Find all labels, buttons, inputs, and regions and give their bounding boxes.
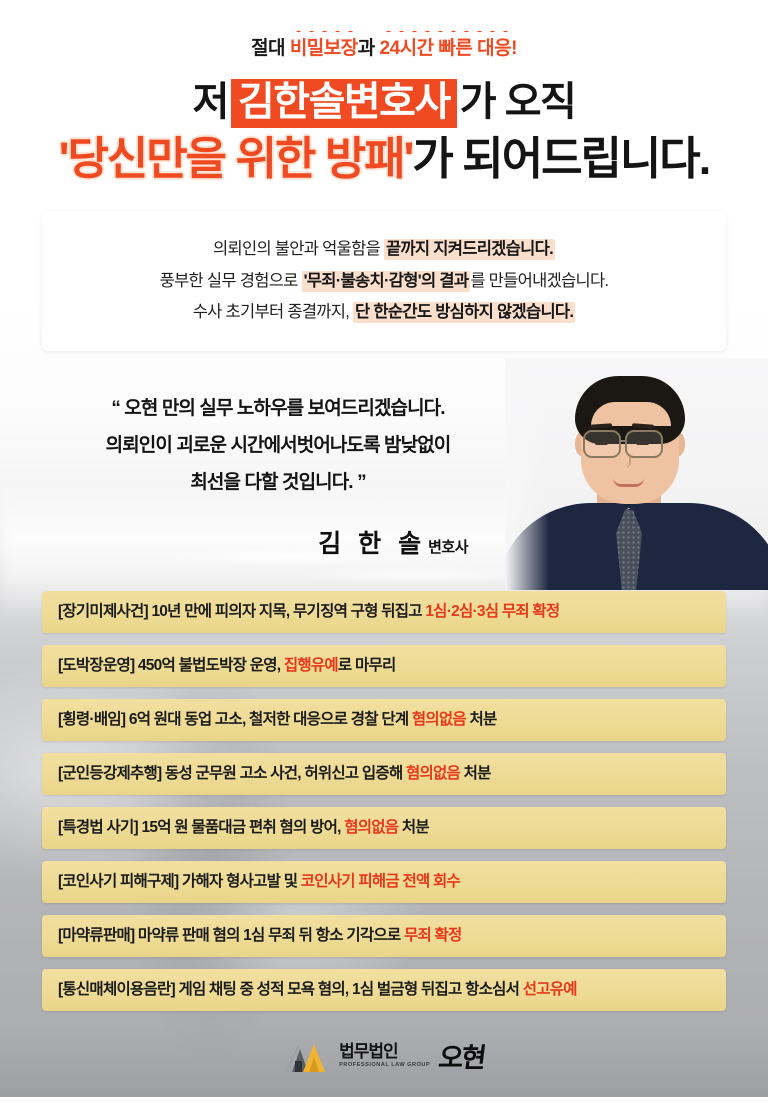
promise-line: 수사 초기부터 종결까지, 단 한순간도 방심하지 않겠습니다.	[193, 302, 576, 323]
headline-line-2: '당신만을 위한 방패'가 되어드립니다.	[0, 134, 768, 184]
mountain-logo-icon	[283, 1039, 329, 1073]
promise-card: 의뢰인의 불안과 억울함을 끝까지 지켜드리겠습니다. 풍부한 실무 경험으로 …	[42, 211, 726, 351]
footer-firm-logo[interactable]: 법무법인 PROFESSIONAL LAW GROUP 오현	[0, 1036, 768, 1075]
case-result-pre: [도박장운영] 450억 불법도박장 운영,	[58, 657, 284, 674]
case-result-pre: [군인등강제추행] 동성 군무원 고소 사건, 허위신고 입증해	[58, 765, 406, 782]
case-result-text: [통신매체이용음란] 게임 채팅 중 성적 모욕 혐의, 1심 벌금형 뒤집고 …	[58, 982, 577, 998]
case-result-row[interactable]: [횡령·배임] 6억 원대 동업 고소, 철저한 대응으로 경찰 단계 혐의없음…	[42, 699, 726, 741]
logo-korean-text: 법무법인	[339, 1043, 430, 1061]
case-result-pre: [마약류판매] 마약류 판매 혐의 1심 무죄 뒤 항소 기각으로	[58, 927, 404, 944]
portrait-mouth	[613, 478, 644, 487]
promise-text-pre: 의뢰인의 불안과 억울함을	[213, 240, 384, 258]
case-result-text: [군인등강제추행] 동성 군무원 고소 사건, 허위신고 입증해 혐의없음 처분	[58, 766, 491, 782]
promise-text-pre: 풍부한 실무 경험으로	[160, 272, 302, 290]
case-result-pre: [코인사기 피해구제] 가해자 형사고발 및	[58, 873, 301, 890]
case-results-list: [장기미제사건] 10년 만에 피의자 지목, 무기징역 구형 뒤집고 1심·2…	[42, 591, 726, 1023]
signature-name: 김 한 솔	[318, 530, 426, 558]
case-result-outcome: 무죄 확정	[404, 927, 462, 944]
case-result-outcome: 코인사기 피해금 전액 회수	[301, 873, 460, 890]
logo-brand-name: 오현	[437, 1036, 487, 1075]
quote-line: 최선을 다할 것입니다. ”	[48, 464, 508, 501]
case-result-text: [장기미제사건] 10년 만에 피의자 지목, 무기징역 구형 뒤집고 1심·2…	[58, 604, 559, 620]
headline-shield-phrase: '당신만을 위한 방패'	[59, 133, 413, 184]
case-result-text: [마약류판매] 마약류 판매 혐의 1심 무죄 뒤 항소 기각으로 무죄 확정	[58, 928, 462, 944]
case-result-post: 처분	[460, 765, 491, 782]
case-result-outcome: 선고유예	[523, 981, 577, 998]
promise-highlight: 단 한순간도 방심하지 않겠습니다.	[353, 302, 575, 323]
eyebrow-highlight-confidentiality: 비밀보장	[290, 38, 358, 59]
case-result-row[interactable]: [도박장운영] 450억 불법도박장 운영, 집행유예로 마무리	[42, 645, 726, 687]
case-result-post: 처분	[466, 711, 497, 728]
case-result-row[interactable]: [군인등강제추행] 동성 군무원 고소 사건, 허위신고 입증해 혐의없음 처분	[42, 753, 726, 795]
case-result-row[interactable]: [코인사기 피해구제] 가해자 형사고발 및 코인사기 피해금 전액 회수	[42, 861, 726, 903]
quote-signature: 김 한 솔변호사	[48, 524, 468, 560]
headline-lawyer-name-badge: 김한솔변호사	[231, 79, 457, 128]
portrait-left-fade	[505, 358, 549, 590]
eyebrow-highlight-response: 24시간 빠른 대응!	[380, 38, 517, 59]
case-result-outcome: 1심·2심·3심 무죄 확정	[425, 603, 559, 620]
promise-highlight: 끝까지 지켜드리겠습니다.	[384, 239, 555, 260]
case-result-outcome: 집행유예	[284, 657, 338, 674]
quote-line: “ 오현 만의 실무 노하우를 보여드리겠습니다.	[48, 390, 508, 427]
promise-text-post: 를 만들어내겠습니다.	[470, 272, 608, 290]
case-result-pre: [장기미제사건] 10년 만에 피의자 지목, 무기징역 구형 뒤집고	[58, 603, 425, 620]
case-result-post: 처분	[398, 819, 429, 836]
case-result-text: [특경법 사기] 15억 원 물품대금 편취 혐의 방어, 혐의없음 처분	[58, 820, 429, 836]
logo-korean-block: 법무법인 PROFESSIONAL LAW GROUP	[339, 1043, 430, 1069]
case-result-outcome: 혐의없음	[406, 765, 460, 782]
case-result-text: [도박장운영] 450억 불법도박장 운영, 집행유예로 마무리	[58, 658, 396, 674]
promise-highlight: '무죄·불송치·감형'의 결과	[302, 271, 471, 292]
portrait-eyeglass-lens-left	[583, 430, 621, 458]
lawyer-quote: “ 오현 만의 실무 노하우를 보여드리겠습니다. 의뢰인이 괴로운 시간에서벗…	[48, 390, 508, 501]
signature-role: 변호사	[428, 539, 468, 556]
case-result-row[interactable]: [마약류판매] 마약류 판매 혐의 1심 무죄 뒤 항소 기각으로 무죄 확정	[42, 915, 726, 957]
promise-text-pre: 수사 초기부터 종결까지,	[193, 303, 353, 321]
case-result-pre: [횡령·배임] 6억 원대 동업 고소, 철저한 대응으로 경찰 단계	[58, 711, 412, 728]
case-result-row[interactable]: [장기미제사건] 10년 만에 피의자 지목, 무기징역 구형 뒤집고 1심·2…	[42, 591, 726, 633]
quote-line: 의뢰인이 괴로운 시간에서벗어나도록 밤낮없이	[48, 427, 508, 464]
headline-line-2-suffix: 가 되어드립니다.	[412, 133, 709, 184]
poster-stage: 절대 비밀보장과 24시간 빠른 대응! 저김한솔변호사가 오직 '당신만을 위…	[0, 0, 768, 1097]
headline-prefix: 저	[193, 80, 228, 124]
headline-line-1: 저김한솔변호사가 오직	[0, 79, 768, 128]
eyebrow-plain-2: 과	[358, 38, 380, 59]
case-result-row[interactable]: [통신매체이용음란] 게임 채팅 중 성적 모욕 혐의, 1심 벌금형 뒤집고 …	[42, 969, 726, 1011]
portrait-eyeglass-bridge	[621, 440, 627, 442]
eyebrow-plain-1: 절대	[251, 38, 290, 59]
case-result-text: [코인사기 피해구제] 가해자 형사고발 및 코인사기 피해금 전액 회수	[58, 874, 460, 890]
case-result-text: [횡령·배임] 6억 원대 동업 고소, 철저한 대응으로 경찰 단계 혐의없음…	[58, 712, 497, 728]
case-result-outcome: 혐의없음	[344, 819, 398, 836]
promise-line: 풍부한 실무 경험으로 '무죄·불송치·감형'의 결과를 만들어내겠습니다.	[160, 271, 609, 292]
case-result-pre: [통신매체이용음란] 게임 채팅 중 성적 모욕 혐의, 1심 벌금형 뒤집고 …	[58, 981, 523, 998]
headline-suffix: 가 오직	[460, 80, 576, 124]
case-result-post: 로 마무리	[338, 657, 396, 674]
logo-text-group: 법무법인 PROFESSIONAL LAW GROUP 오현	[339, 1036, 485, 1075]
logo-english-text: PROFESSIONAL LAW GROUP	[339, 1062, 430, 1068]
case-result-pre: [특경법 사기] 15억 원 물품대금 편취 혐의 방어,	[58, 819, 344, 836]
case-result-outcome: 혐의없음	[412, 711, 466, 728]
promise-line: 의뢰인의 불안과 억울함을 끝까지 지켜드리겠습니다.	[213, 239, 555, 260]
lawyer-portrait-photo	[505, 358, 768, 590]
case-result-row[interactable]: [특경법 사기] 15억 원 물품대금 편취 혐의 방어, 혐의없음 처분	[42, 807, 726, 849]
eyebrow-tagline: 절대 비밀보장과 24시간 빠른 대응!	[0, 33, 768, 60]
